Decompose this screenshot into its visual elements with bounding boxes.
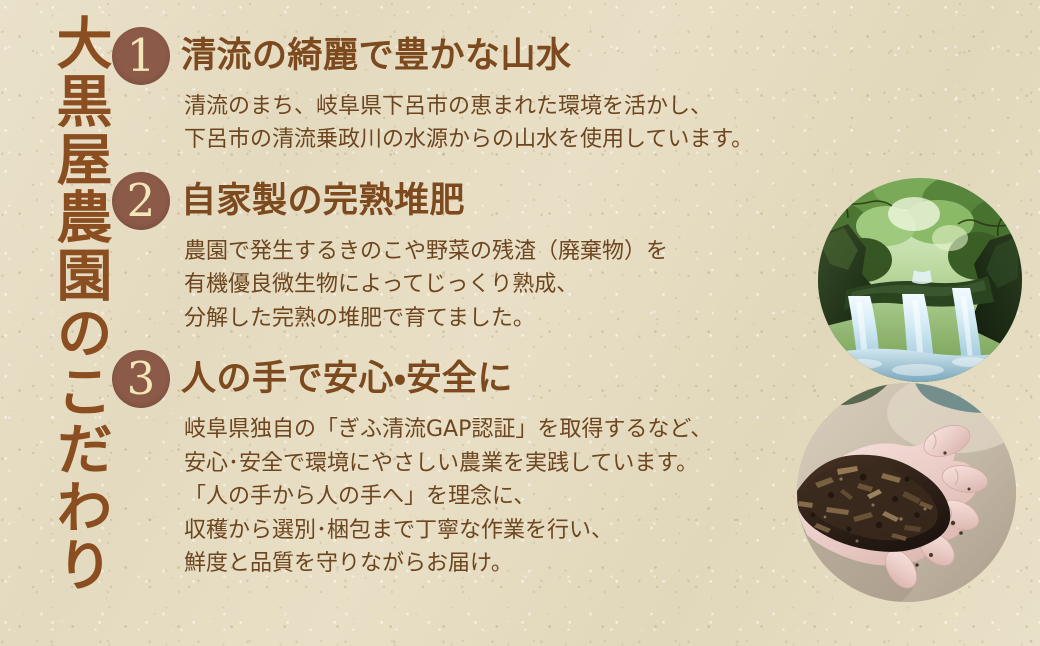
compost-illustration bbox=[797, 383, 1016, 602]
body-line: 有機優良微生物によってじっくり熟成、 bbox=[184, 268, 872, 301]
feature-heading-row: 3 人の手で安心・安全に bbox=[112, 349, 872, 409]
feature-heading-row: 2 自家製の完熟堆肥 bbox=[112, 171, 872, 231]
body-line: 清流のまち、岐阜県下呂市の恵まれた環境を活かし、 bbox=[184, 90, 872, 123]
body-line: 分解した完熟の堆肥で育てました。 bbox=[184, 302, 872, 335]
promo-panel: 大黒屋農園のこだわり 1 清流の綺麗で豊かな山水 清流のまち、岐阜県下呂市の恵ま… bbox=[0, 0, 1040, 646]
body-line: 農園で発生するきのこや野菜の残渣（廃棄物）を bbox=[184, 235, 872, 268]
body-line: 「人の手から人の手へ」を理念に、 bbox=[184, 480, 872, 513]
body-line: 安心･安全で環境にやさしい農業を実践しています。 bbox=[184, 447, 872, 480]
body-line: 収穫から選別･梱包まで丁寧な作業を行い、 bbox=[184, 514, 872, 547]
feature-heading-row: 1 清流の綺麗で豊かな山水 bbox=[112, 26, 872, 86]
feature-heading-2: 自家製の完熟堆肥 bbox=[181, 182, 465, 221]
list-item: 2 自家製の完熟堆肥 農園で発生するきのこや野菜の残渣（廃棄物）を 有機優良微生… bbox=[112, 171, 872, 335]
feature-heading-3: 人の手で安心・安全に bbox=[181, 360, 513, 399]
page-title-vertical: 大黒屋農園のこだわり bbox=[22, 14, 108, 632]
feature-body-1: 清流のまち、岐阜県下呂市の恵まれた環境を活かし、 下呂市の清流乗政川の水源からの… bbox=[184, 90, 872, 157]
waterfall-illustration bbox=[818, 178, 1022, 382]
list-item: 1 清流の綺麗で豊かな山水 清流のまち、岐阜県下呂市の恵まれた環境を活かし、 下… bbox=[112, 26, 872, 157]
number-badge-2: 2 bbox=[112, 172, 170, 230]
list-item: 3 人の手で安心・安全に 岐阜県独自の「ぎふ清流GAP認証」を取得するなど、 安… bbox=[112, 349, 872, 580]
feature-body-3: 岐阜県独自の「ぎふ清流GAP認証」を取得するなど、 安心･安全で環境にやさしい農… bbox=[184, 413, 872, 580]
number-badge-1: 1 bbox=[112, 27, 170, 85]
body-line: 岐阜県独自の「ぎふ清流GAP認証」を取得するなど、 bbox=[184, 413, 872, 446]
feature-body-2: 農園で発生するきのこや野菜の残渣（廃棄物）を 有機優良微生物によってじっくり熟成… bbox=[184, 235, 872, 335]
feature-heading-1: 清流の綺麗で豊かな山水 bbox=[181, 37, 572, 76]
body-line: 鮮度と品質を守りながらお届け。 bbox=[184, 547, 872, 580]
feature-list: 1 清流の綺麗で豊かな山水 清流のまち、岐阜県下呂市の恵まれた環境を活かし、 下… bbox=[112, 18, 872, 580]
body-line: 下呂市の清流乗政川の水源からの山水を使用しています。 bbox=[184, 123, 872, 156]
number-badge-3: 3 bbox=[112, 350, 170, 408]
compost-soil-photo bbox=[797, 383, 1016, 602]
waterfall-photo bbox=[818, 178, 1022, 382]
